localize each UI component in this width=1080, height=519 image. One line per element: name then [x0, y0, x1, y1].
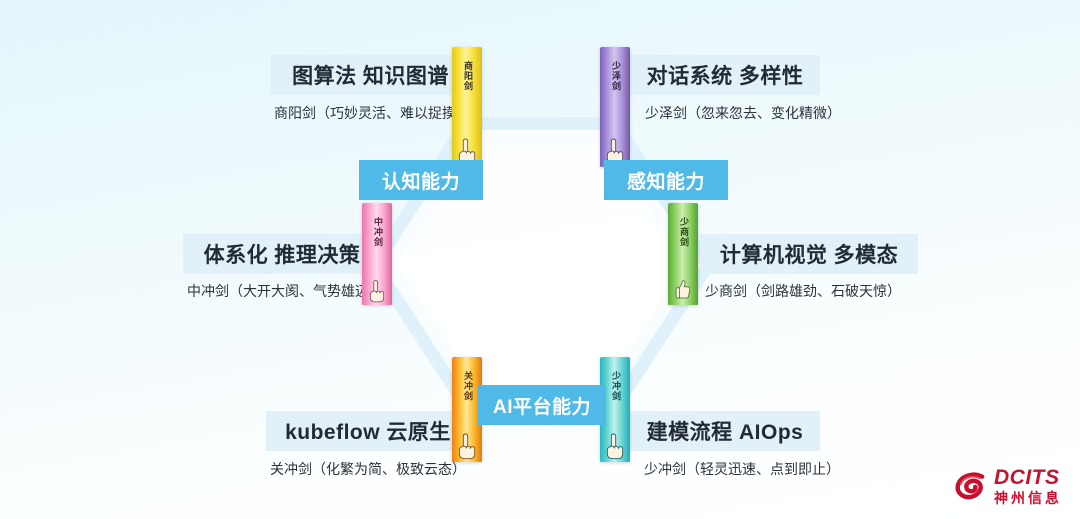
pointing-hand-icon: [603, 430, 627, 460]
node-title-computer-vision: 计算机视觉 多模态: [700, 234, 918, 274]
node-title-text: kubeflow 云原生: [285, 416, 451, 446]
node-subtitle-graph-algorithm: 商阳剑（巧妙灵活、难以捉摸）: [274, 103, 470, 123]
node-subtitle-aiops: 少冲剑（轻灵迅速、点到即止）: [644, 459, 840, 479]
sword-label: 商阳剑: [461, 54, 473, 98]
sword-column-computer-vision: 少商剑: [668, 203, 698, 305]
node-subtitle-computer-vision: 少商剑（剑路雄劲、石破天惊）: [705, 281, 901, 301]
pointing-hand-icon: [366, 277, 388, 303]
sword-column-graph-algorithm: 商阳剑: [452, 47, 482, 167]
logo-en: DCITS: [994, 467, 1062, 488]
logo-wordmark: DCITS 神州信息: [994, 467, 1062, 505]
node-title-text: 对话系统 多样性: [647, 60, 804, 90]
sword-column-systematization: 中冲剑: [362, 203, 392, 305]
node-subtitle-dialogue-system: 少泽剑（忽来忽去、变化精微）: [645, 103, 841, 123]
sword-label: 少冲剑: [609, 364, 621, 408]
node-title-text: 建模流程 AIOps: [647, 416, 804, 446]
node-title-text: 计算机视觉 多模态: [720, 239, 898, 269]
sword-column-dialogue-system: 少泽剑: [600, 47, 630, 167]
node-subtitle-kubeflow: 关冲剑（化繁为简、极致云态）: [270, 459, 466, 479]
node-title-dialogue-system: 对话系统 多样性: [630, 55, 820, 95]
logo-cn: 神州信息: [994, 491, 1062, 505]
node-subtitle-systematization: 中冲剑（大开大阂、气势雄迈）: [187, 281, 383, 301]
sword-label: 关冲剑: [461, 364, 473, 408]
badge-cognitive[interactable]: 认知能力: [359, 160, 483, 200]
slide-canvas: 商阳剑 少泽剑 中冲剑 少商剑: [0, 0, 1080, 519]
sword-label: 少商剑: [677, 210, 689, 254]
node-title-text: 图算法 知识图谱: [292, 60, 449, 90]
badge-ai-platform[interactable]: AI平台能力: [478, 385, 606, 425]
node-title-aiops: 建模流程 AIOps: [630, 411, 820, 451]
sword-label: 中冲剑: [371, 210, 383, 254]
hexagon-connector: [0, 0, 1080, 519]
swirl-icon: [954, 469, 988, 503]
node-title-text: 体系化 推理决策: [204, 239, 361, 269]
node-title-kubeflow: kubeflow 云原生: [266, 411, 470, 451]
thumbs-up-icon: [672, 277, 694, 303]
node-title-systematization: 体系化 推理决策: [183, 234, 381, 274]
dcits-logo: DCITS 神州信息: [954, 467, 1062, 505]
node-title-graph-algorithm: 图算法 知识图谱: [271, 55, 470, 95]
badge-perception[interactable]: 感知能力: [604, 160, 728, 200]
sword-label: 少泽剑: [609, 54, 621, 98]
pointing-hand-icon: [455, 430, 479, 460]
